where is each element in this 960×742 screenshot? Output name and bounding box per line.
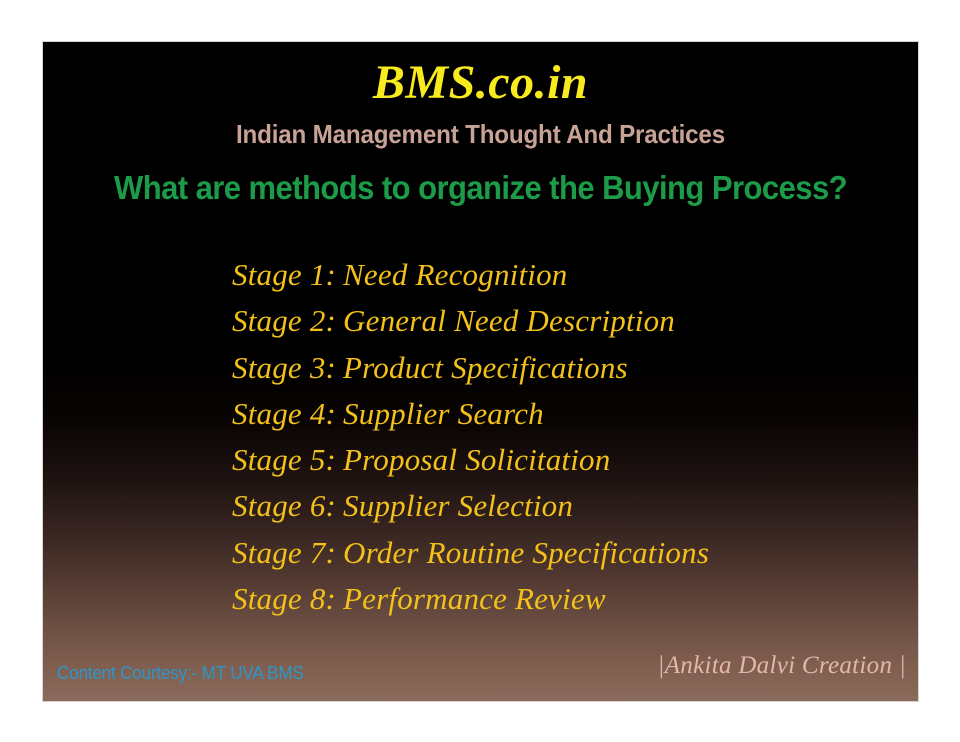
stage-label: Stage 8: <box>232 581 336 616</box>
stage-label: Stage 2: <box>232 303 336 338</box>
list-item: Stage 3:Product Specifications <box>232 345 892 391</box>
stage-label: Stage 6: <box>232 488 336 523</box>
list-item: Stage 7:Order Routine Specifications <box>232 530 892 576</box>
list-item: Stage 1:Need Recognition <box>232 252 892 298</box>
list-item: Stage 5:Proposal Solicitation <box>232 437 892 483</box>
brand-subtitle: Indian Management Thought And Practices <box>74 119 888 150</box>
list-item: Stage 2:General Need Description <box>232 298 892 344</box>
stage-label: Stage 3: <box>232 350 336 385</box>
stage-label: Stage 1: <box>232 257 336 292</box>
stage-name: Order Routine Specifications <box>336 535 709 570</box>
presentation-slide: BMS.co.in Indian Management Thought And … <box>43 42 918 701</box>
stage-list: Stage 1:Need Recognition Stage 2:General… <box>232 252 892 622</box>
stage-label: Stage 5: <box>232 442 336 477</box>
stage-name: Supplier Selection <box>336 488 573 523</box>
stage-name: Proposal Solicitation <box>336 442 610 477</box>
footer-signature-text: |Ankita Dalvi Creation | <box>658 652 906 680</box>
stage-label: Stage 7: <box>232 535 336 570</box>
stage-name: Product Specifications <box>336 350 628 385</box>
stage-name: General Need Description <box>336 303 675 338</box>
stage-name: Supplier Search <box>336 396 544 431</box>
list-item: Stage 8:Performance Review <box>232 576 892 622</box>
footer-courtesy-text: Content Courtesy:- MT UVA BMS <box>57 662 304 684</box>
stage-name: Need Recognition <box>336 257 567 292</box>
brand-title: BMS.co.in <box>43 55 918 111</box>
list-item: Stage 6:Supplier Selection <box>232 483 892 529</box>
stage-label: Stage 4: <box>232 396 336 431</box>
question-heading: What are methods to organize the Buying … <box>69 168 892 208</box>
stage-name: Performance Review <box>336 581 606 616</box>
list-item: Stage 4:Supplier Search <box>232 391 892 437</box>
